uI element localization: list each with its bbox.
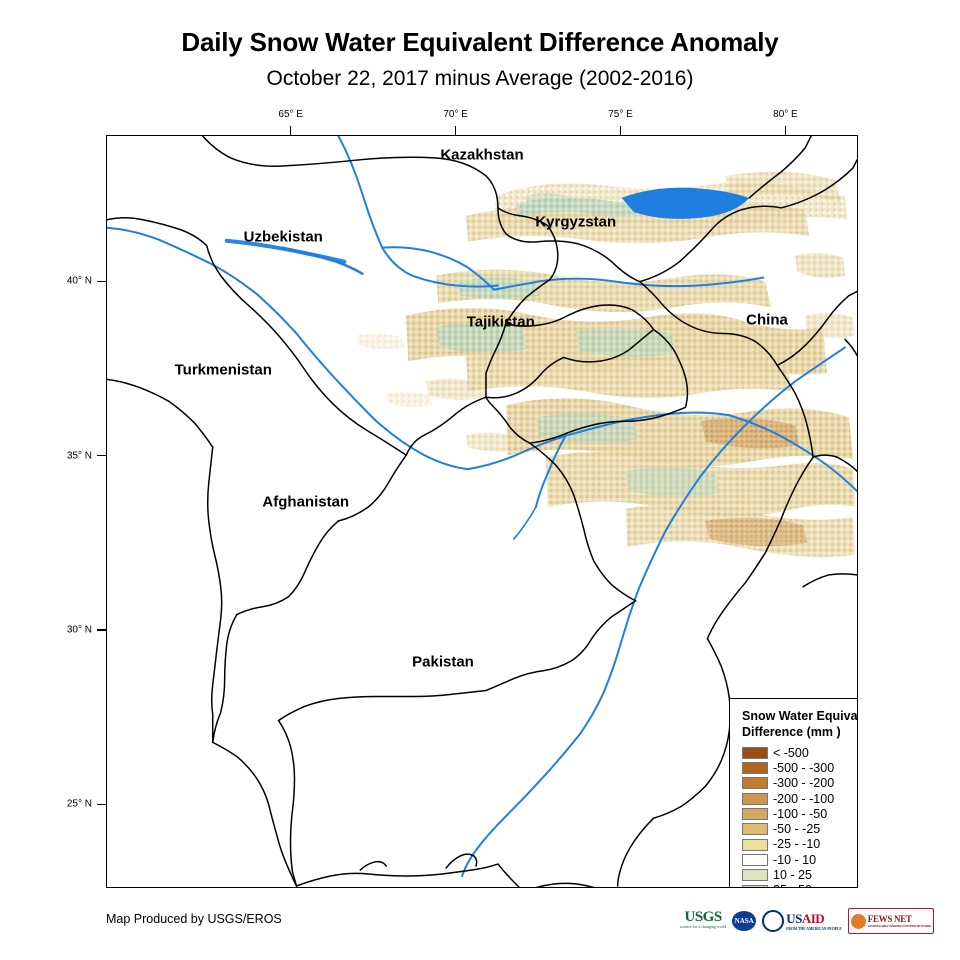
legend-swatch — [742, 762, 768, 774]
page-subtitle: October 22, 2017 minus Average (2002-201… — [0, 67, 960, 90]
legend-class-row: -200 - -100 — [742, 791, 858, 806]
legend-class-label: -500 - -300 — [773, 762, 834, 775]
lon-tick — [290, 126, 292, 135]
lat-tick-label: 30° N — [48, 625, 92, 636]
legend-title-line2: Difference (mm ) — [742, 725, 858, 741]
usaid-logo: USAID FROM THE AMERICAN PEOPLE — [762, 910, 842, 932]
page-title: Daily Snow Water Equivalent Difference A… — [0, 28, 960, 57]
map-legend: Snow Water Equivalent Difference (mm ) <… — [729, 698, 858, 888]
lat-tick — [97, 281, 106, 283]
legend-class-row: 10 - 25 — [742, 868, 858, 883]
lon-tick-label: 80° E — [773, 109, 798, 120]
legend-class-label: -300 - -200 — [773, 777, 834, 790]
nasa-logo-text: NASA — [732, 911, 756, 931]
legend-class-label: -25 - -10 — [773, 838, 820, 851]
agency-logo-strip: USGS science for a changing world NASA U… — [680, 908, 934, 934]
fews-net-logo: FEWS NET FAMINE EARLY WARNING SYSTEMS NE… — [848, 908, 934, 934]
lon-tick-label: 70° E — [443, 109, 468, 120]
nasa-logo: NASA — [732, 910, 756, 932]
legend-swatch — [742, 869, 768, 881]
legend-class-label: -100 - -50 — [773, 808, 827, 821]
lat-tick — [97, 804, 106, 806]
lat-tick-label: 25° N — [48, 799, 92, 810]
legend-swatch — [742, 747, 768, 759]
fews-logo-text: FEWS NET FAMINE EARLY WARNING SYSTEMS NE… — [868, 914, 931, 928]
lon-tick — [455, 126, 457, 135]
footer-credit: Map Produced by USGS/EROS — [106, 912, 282, 926]
legend-class-row: 25 - 50 — [742, 883, 858, 888]
legend-class-list: < -500-500 - -300-300 - -200-200 - -100-… — [742, 745, 858, 888]
usaid-seal-icon — [762, 910, 784, 932]
lat-tick-label: 40° N — [48, 276, 92, 287]
legend-class-label: -200 - -100 — [773, 793, 834, 806]
usaid-logo-tagline: FROM THE AMERICAN PEOPLE — [786, 927, 842, 931]
legend-class-label: -50 - -25 — [773, 823, 820, 836]
legend-swatch — [742, 823, 768, 835]
lon-tick-label: 75° E — [608, 109, 633, 120]
usaid-logo-text: USAID FROM THE AMERICAN PEOPLE — [786, 911, 842, 931]
legend-swatch — [742, 777, 768, 789]
legend-class-row: < -500 — [742, 745, 858, 760]
usgs-logo-text: USGS — [685, 910, 722, 925]
legend-title: Snow Water Equivalent Difference (mm ) — [742, 709, 858, 740]
lat-tick — [97, 629, 106, 631]
legend-title-line1: Snow Water Equivalent — [742, 709, 858, 725]
legend-class-label: < -500 — [773, 747, 809, 760]
legend-class-label: 25 - 50 — [773, 884, 812, 888]
legend-swatch — [742, 854, 768, 866]
usgs-logo: USGS science for a changing world — [680, 910, 726, 932]
fews-logo-tagline: FAMINE EARLY WARNING SYSTEMS NETWORK — [868, 924, 931, 928]
map-canvas[interactable]: Kazakhstan Uzbekistan Kyrgyzstan Tajikis… — [106, 135, 858, 888]
legend-class-row: -10 - 10 — [742, 852, 858, 867]
legend-class-row: -25 - -10 — [742, 837, 858, 852]
legend-class-row: -500 - -300 — [742, 761, 858, 776]
fews-globe-icon — [851, 914, 866, 929]
legend-swatch — [742, 808, 768, 820]
legend-class-row: -300 - -200 — [742, 776, 858, 791]
legend-swatch — [742, 885, 768, 888]
title-block: Daily Snow Water Equivalent Difference A… — [0, 0, 960, 90]
legend-class-label: -10 - 10 — [773, 854, 816, 867]
fews-logo-label: FEWS NET — [868, 914, 912, 924]
legend-class-row: -100 - -50 — [742, 806, 858, 821]
legend-swatch — [742, 839, 768, 851]
usgs-logo-tagline: science for a changing world — [680, 925, 726, 929]
lat-tick-label: 35° N — [48, 450, 92, 461]
lat-tick — [97, 455, 106, 457]
legend-class-row: -50 - -25 — [742, 822, 858, 837]
lon-tick — [785, 126, 787, 135]
legend-swatch — [742, 793, 768, 805]
lon-tick-label: 65° E — [278, 109, 303, 120]
lon-tick — [620, 126, 622, 135]
legend-class-label: 10 - 25 — [773, 869, 812, 882]
